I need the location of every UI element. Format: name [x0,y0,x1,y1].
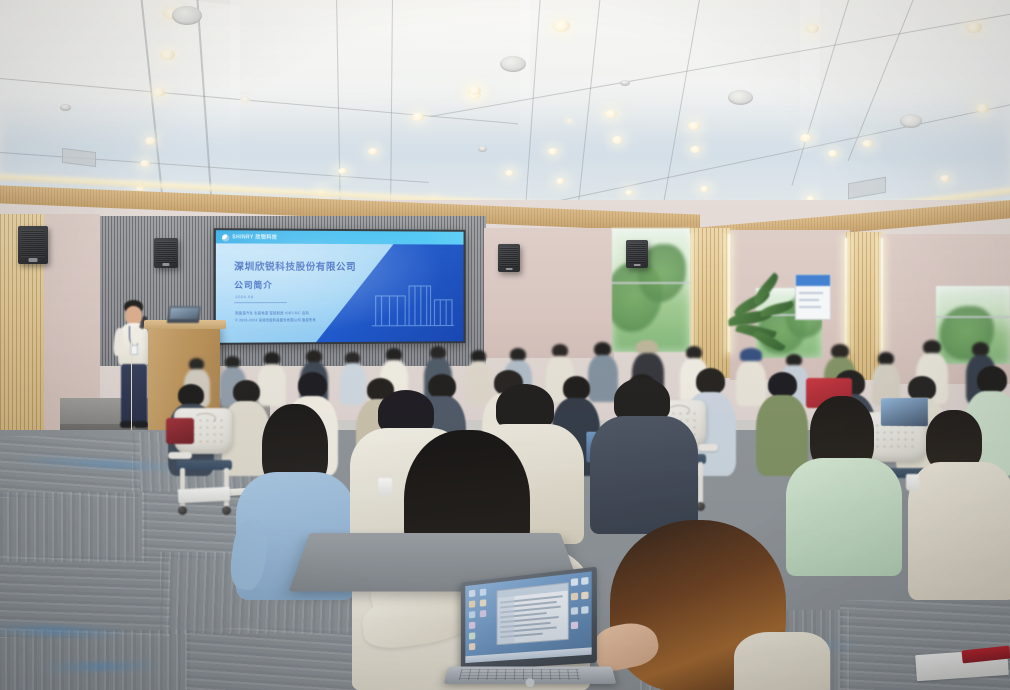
slide-title: 深圳欣锐科技股份有限公司 [234,259,356,273]
chair-caster [178,506,187,515]
paper-sheet [178,487,231,504]
ceiling-downlight [338,168,347,174]
attendee-torso [908,462,1010,600]
attendee-torso [734,632,830,690]
ceiling-sprinkler-icon [60,104,71,111]
chair-armrest [698,444,718,451]
laptop-keyboard[interactable] [459,669,581,680]
speaker-grille-icon [156,241,175,263]
ceiling-downlight [505,170,514,176]
ceiling-downlight [160,50,175,60]
hp-logo-icon [526,678,535,687]
desktop-icon[interactable] [581,606,588,614]
conference-room-photo: SHINRY 欣锐科技 [0,0,1010,690]
chair-handle-icon [194,413,216,424]
ceiling-downlight [976,104,989,113]
wall-speaker-left [18,226,48,264]
attendee-torso [590,416,698,534]
ceiling-downlight [565,118,574,124]
window-sidebar-panel[interactable] [497,596,514,644]
ceiling-downlight [368,148,378,155]
chair-armrest [168,452,192,459]
wall-speaker-stage-left [154,238,178,268]
paper-cup [906,474,919,491]
slide-footer-line-2: © 2003-2024 深圳欣锐科技股份有限公司 版权所有 [235,317,316,322]
desktop-icon[interactable] [581,591,588,599]
podium-laptop-screen [169,308,199,319]
ceiling-downlight [556,178,565,184]
projected-slide: SHINRY 欣锐科技 [216,230,464,343]
desktop-icon[interactable] [480,599,486,606]
ceiling-sprinkler-icon [620,80,630,86]
ceiling-downlight [800,134,812,142]
ceiling-downlight [548,148,558,155]
speaker-brand-mark [506,268,513,271]
desktop-icon[interactable] [469,622,475,629]
paper-cup [378,478,392,496]
desktop-icon[interactable] [469,590,475,597]
laptop-lid [461,567,597,671]
ceiling-downlight [806,24,819,33]
attendee-laptop-foreground[interactable] [446,575,614,690]
slide-subtitle: 公司简介 [234,279,273,291]
ceiling-downlight [240,96,250,103]
ceiling-speaker-icon [500,56,526,72]
ceiling-downlight [140,160,150,167]
ceiling-downlight [688,122,700,130]
carpet-tile [0,630,190,690]
desktop-icon[interactable] [571,578,578,586]
ceiling-downlight [468,86,481,95]
speaker-grille-icon [21,230,45,257]
ceiling-downlight [605,110,617,118]
beige-cap-icon [636,340,658,353]
wall-speaker-right [626,240,648,268]
wall-speaker-stage-right [498,244,520,272]
speaker-grille-icon [500,247,518,267]
slide-footer-line-1: 新能源汽车 车载电源 智能制造 IGBT/SiC 应用 [235,310,309,315]
podium-laptop [167,306,201,323]
attendee-front-edge-right [908,410,1010,600]
ceiling-downlight [612,136,623,144]
desktop-icon[interactable] [480,610,486,617]
taskbar[interactable] [465,647,591,663]
desktop-icon[interactable] [469,611,475,618]
notice-sign [795,274,831,320]
vertical-led-strip [845,238,847,350]
desktop-icon[interactable] [469,643,475,650]
red-bag [166,418,194,444]
speaker-brand-mark [634,264,641,267]
ceiling-downlight [700,186,709,192]
ceiling-downlight [966,22,982,33]
speaker-grille-icon [628,243,646,263]
ceiling-downlight [940,175,950,182]
application-window[interactable] [496,582,568,645]
slide-building-graphic [370,278,456,334]
attendee-front-right-b [590,378,700,533]
desktop-icon[interactable] [571,621,578,629]
desktop-icon[interactable] [571,607,578,615]
slide-date: 2024.08 [235,294,253,299]
desktop-icon[interactable] [581,577,588,585]
carpet-tile [0,492,150,562]
desktop-icon[interactable] [469,600,475,607]
ceiling-speaker-icon [900,114,922,128]
ceiling-downlight [862,140,873,147]
slide-divider [234,302,287,303]
ceiling-downlight [828,150,838,157]
ceiling-downlight [412,113,424,121]
projection-screen: SHINRY 欣锐科技 [214,228,466,345]
ceiling-speaker-icon [728,90,753,105]
slide-header-logo-text: SHINRY 欣锐科技 [232,233,277,240]
window-left [612,228,690,352]
desktop-icon[interactable] [469,632,475,639]
ceiling-downlight [145,137,156,145]
ceiling-speaker-icon [172,6,202,25]
ceiling-sprinkler-icon [478,146,487,152]
chair-caster [222,506,231,515]
desktop-icon[interactable] [571,593,578,601]
speaker-brand-mark [29,258,38,262]
laptop-screen[interactable] [465,571,591,663]
speaker-brand-mark [162,263,169,266]
desktop-icon[interactable] [480,589,486,597]
ceiling-downlight [553,20,570,32]
ceiling-downlight [152,88,165,97]
ceiling-downlight [625,190,633,195]
company-logo-icon [222,234,229,241]
notice-sign-header [796,275,830,286]
vertical-led-strip [881,238,883,350]
ceiling-downlight [690,146,701,153]
